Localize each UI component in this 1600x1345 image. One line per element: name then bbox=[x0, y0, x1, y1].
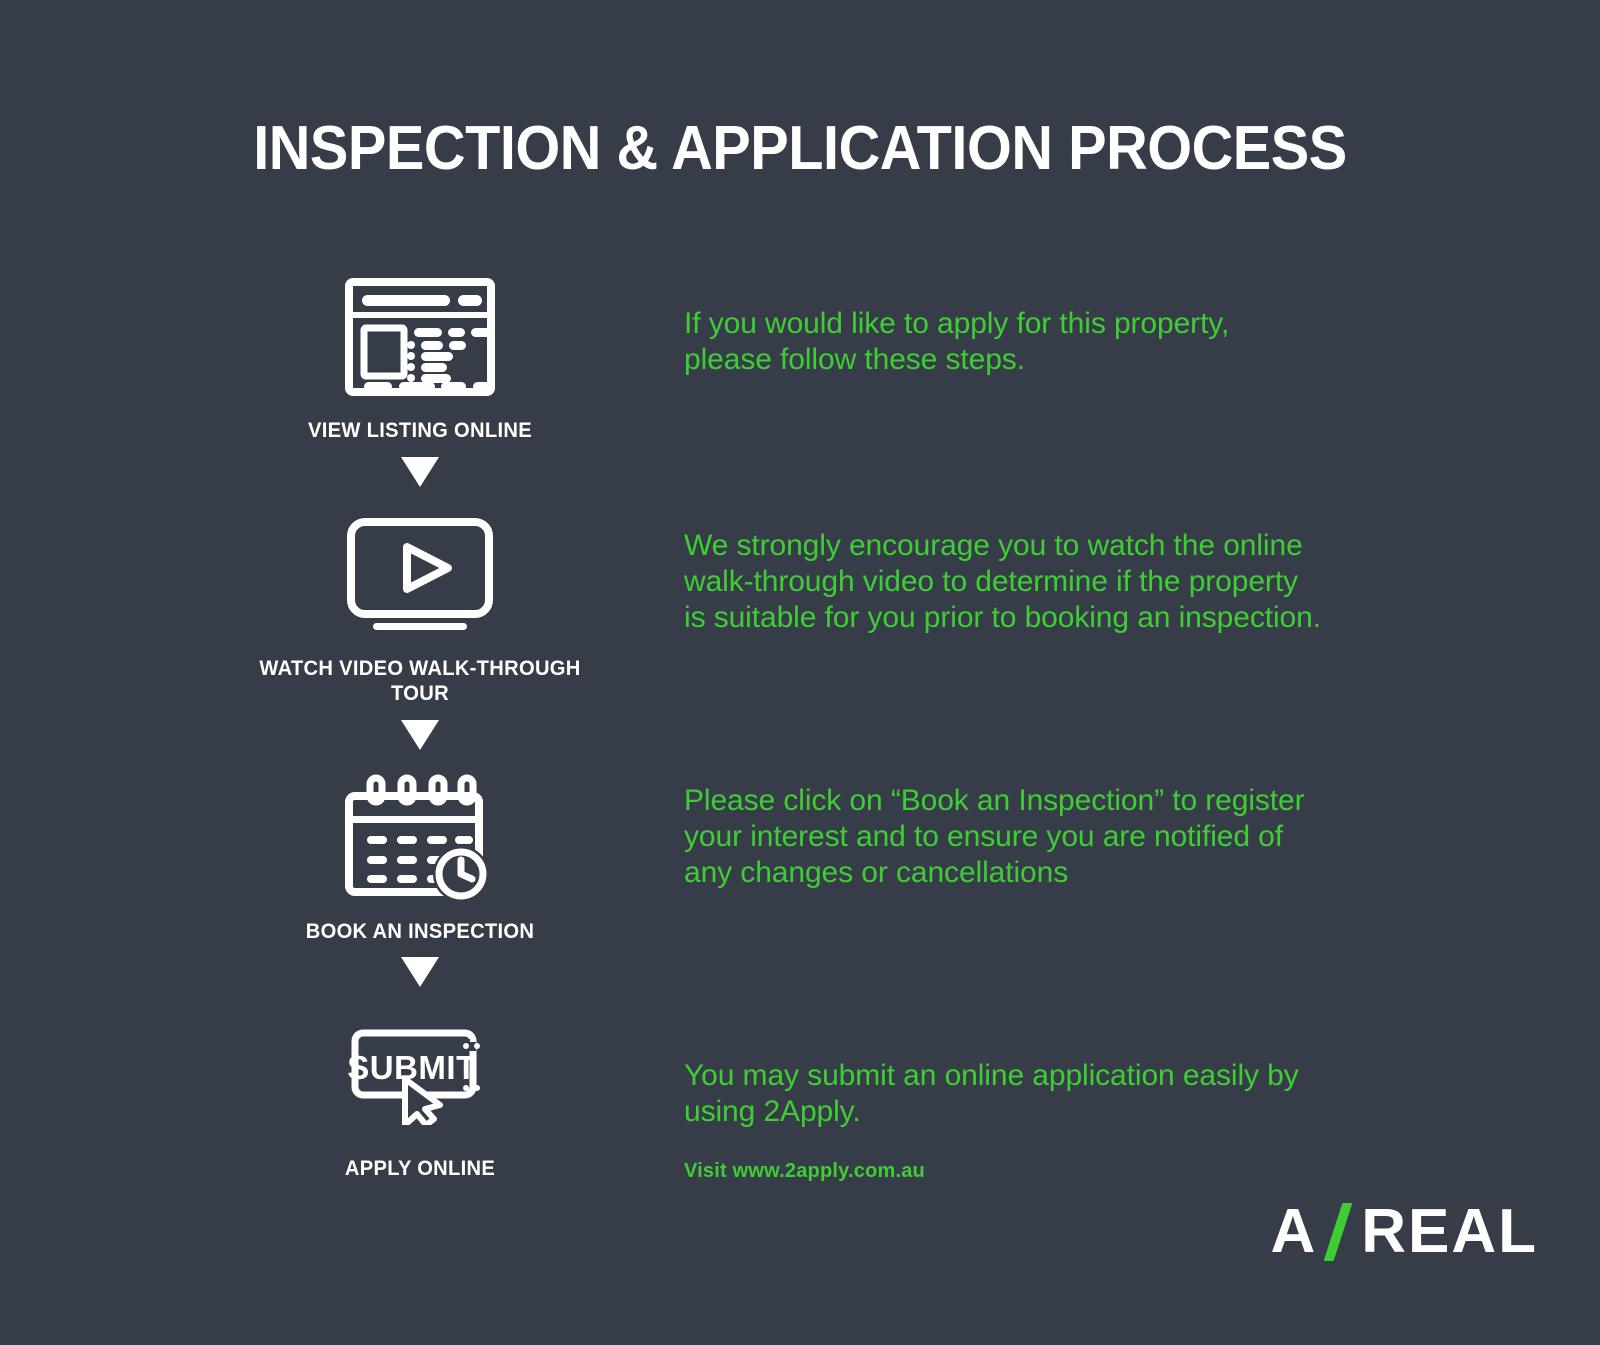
chevron-down-icon bbox=[401, 457, 439, 487]
video-monitor-play-icon bbox=[230, 500, 610, 650]
step-label: WATCH VIDEO WALK-THROUGH TOUR bbox=[238, 656, 603, 707]
brand-logo: A REAL bbox=[1270, 1196, 1538, 1267]
chevron-down-icon bbox=[401, 957, 439, 987]
step-view-listing-online: VIEW LISTING ONLINE bbox=[230, 262, 610, 444]
connector-arrow-1 bbox=[230, 444, 610, 500]
listing-page-icon bbox=[230, 262, 610, 412]
step-copy-watch-video: We strongly encourage you to watch the o… bbox=[684, 528, 1414, 636]
chevron-down-icon bbox=[401, 720, 439, 750]
submit-icon-text: SUBMIT bbox=[347, 1049, 477, 1086]
step-label: BOOK AN INSPECTION bbox=[238, 919, 603, 945]
step-copy-apply-online: You may submit an online application eas… bbox=[684, 1058, 1384, 1130]
step-apply-online: SUBMIT APPLY ONLINE bbox=[230, 1000, 610, 1182]
logo-word-real: REAL bbox=[1361, 1196, 1538, 1267]
step-copy-book-inspection: Please click on “Book an Inspection” to … bbox=[684, 783, 1394, 891]
connector-arrow-2 bbox=[230, 707, 610, 763]
step-label: APPLY ONLINE bbox=[238, 1156, 603, 1182]
step-watch-video: WATCH VIDEO WALK-THROUGH TOUR bbox=[230, 500, 610, 707]
calendar-clock-icon bbox=[230, 763, 610, 913]
process-steps-column: VIEW LISTING ONLINE WATCH VIDEO WALK-THR… bbox=[230, 262, 610, 1182]
infographic-poster: INSPECTION & APPLICATION PROCESS bbox=[0, 0, 1600, 1345]
step-copy-view-listing: If you would like to apply for this prop… bbox=[684, 306, 1324, 378]
connector-arrow-3 bbox=[230, 944, 610, 1000]
logo-letter-a: A bbox=[1270, 1196, 1317, 1267]
page-title: INSPECTION & APPLICATION PROCESS bbox=[56, 116, 1544, 181]
visit-link[interactable]: Visit www.2apply.com.au bbox=[684, 1160, 925, 1183]
submit-button-cursor-icon: SUBMIT bbox=[230, 1000, 610, 1150]
step-label: VIEW LISTING ONLINE bbox=[238, 418, 603, 444]
step-book-inspection: BOOK AN INSPECTION bbox=[230, 763, 610, 945]
logo-slash-icon bbox=[1324, 1203, 1353, 1261]
